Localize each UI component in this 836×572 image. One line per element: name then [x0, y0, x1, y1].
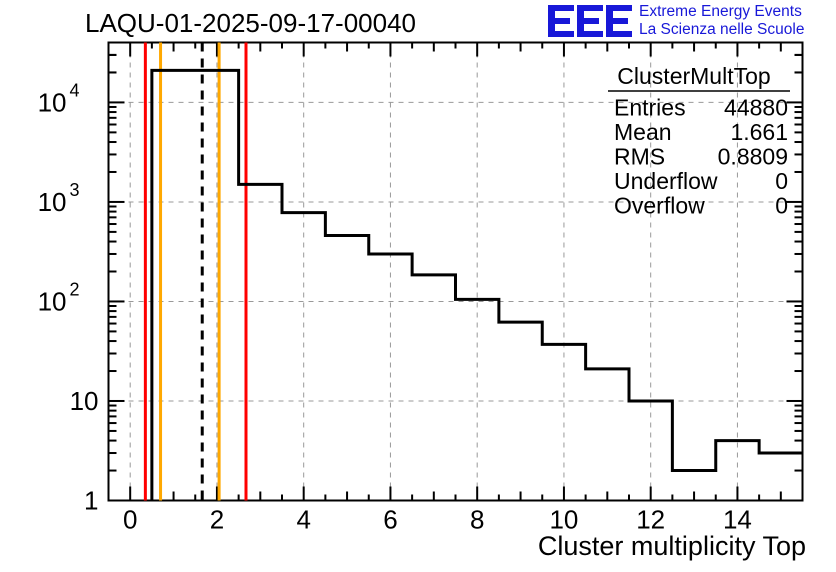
y-tick-label: 104: [38, 80, 80, 117]
stats-row-label: Underflow: [614, 168, 718, 194]
svg-text:10: 10: [38, 187, 67, 217]
svg-text:1: 1: [84, 486, 98, 516]
x-tick-label: 6: [383, 505, 397, 535]
y-tick-label: 103: [38, 180, 80, 217]
stats-row-label: Overflow: [614, 193, 705, 219]
x-tick-label: 0: [123, 505, 137, 535]
svg-text:4: 4: [70, 80, 80, 100]
stats-row-value: 44880: [724, 95, 788, 121]
svg-text:10: 10: [38, 87, 67, 117]
stats-row-value: 0: [775, 193, 788, 219]
histogram-plot: 02468101214 110102103104 ClusterMultTopE…: [0, 0, 836, 572]
marker-lines: [145, 43, 246, 501]
x-tick-label: 2: [210, 505, 224, 535]
svg-text:3: 3: [70, 180, 80, 200]
y-tick-label: 10: [70, 386, 99, 416]
x-axis-title: Cluster multiplicity Top: [538, 531, 806, 562]
plot-frame: [109, 43, 803, 501]
axis-ticks: [109, 43, 803, 501]
stats-row-label: RMS: [614, 144, 665, 170]
x-tick-label: 14: [723, 505, 752, 535]
svg-text:10: 10: [38, 286, 67, 316]
root-canvas: LAQU-01-2025-09-17-00040 Extreme Energy …: [0, 0, 836, 572]
stats-row-value: 0.8809: [718, 144, 788, 170]
stats-row-value: 1.661: [730, 119, 788, 145]
y-tick-label: 1: [84, 486, 98, 516]
x-tick-label: 12: [636, 505, 665, 535]
stats-row-label: Entries: [614, 95, 686, 121]
svg-text:10: 10: [70, 386, 99, 416]
x-axis-tick-labels: 02468101214: [123, 505, 752, 535]
svg-text:2: 2: [70, 279, 80, 299]
stats-box: ClusterMultTopEntries44880Mean1.661RMS0.…: [608, 63, 790, 219]
x-tick-label: 8: [470, 505, 484, 535]
stats-title: ClusterMultTop: [617, 63, 770, 89]
x-tick-label: 4: [296, 505, 310, 535]
y-tick-label: 102: [38, 279, 80, 316]
gridlines: [109, 43, 803, 501]
x-tick-label: 10: [549, 505, 578, 535]
y-axis-tick-labels: 110102103104: [38, 80, 99, 515]
stats-row-value: 0: [775, 168, 788, 194]
stats-row-label: Mean: [614, 119, 672, 145]
